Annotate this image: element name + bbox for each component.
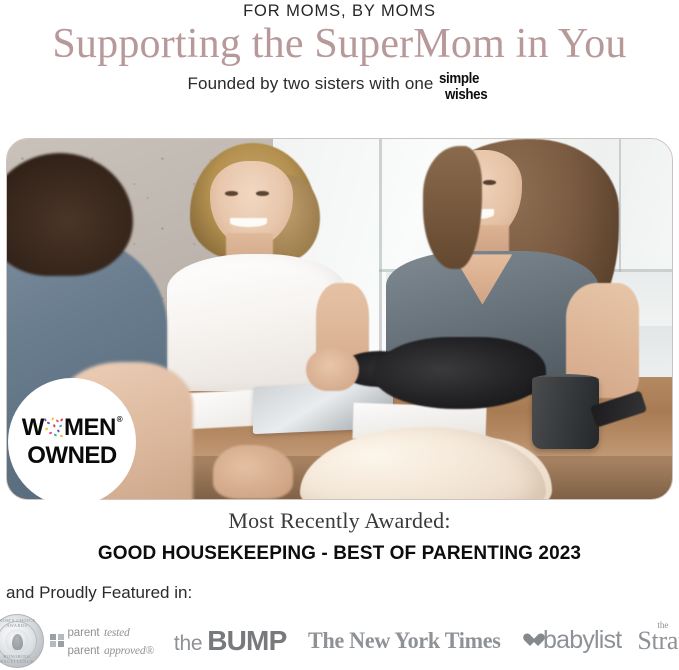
the-bump-logo: the BUMP [174, 625, 287, 657]
the-bump-word: BUMP [207, 625, 286, 657]
simple-wishes-logo: simple wishes [439, 72, 491, 102]
parent-tested-line1: parent tested [68, 623, 154, 640]
left-woman-eye [225, 191, 238, 195]
press-logo-new-york-times: The New York Times [286, 612, 505, 669]
parent-tested-word-tested: tested [104, 627, 130, 639]
eyebrow-text: FOR MOMS, BY MOMS [0, 2, 679, 21]
seal-text-bottom: HONORING EXCELLENCE [0, 654, 46, 664]
parent-tested-line2: parent approved® [68, 641, 154, 658]
new-york-times-logo: The New York Times [308, 628, 501, 654]
women-owned-line2: OWNED [27, 444, 117, 468]
the-strategist-logo: the Strategist [637, 626, 679, 656]
press-logo-the-strategist: the Strategist [621, 612, 679, 669]
parent-approved-word-approved: approved® [104, 645, 154, 657]
women-owned-badge: W MEN ® OWNED [8, 378, 136, 506]
page-title: Supporting the SuperMom in You [0, 20, 679, 68]
registered-trademark-icon: ® [117, 416, 122, 424]
founded-by-row: Founded by two sisters with one simple w… [0, 73, 679, 102]
women-owned-men: MEN [64, 416, 116, 440]
parent-tested-word-parent: parent [68, 627, 100, 639]
award-seal-icon: MOM'S CHOICE AWARDS HONORING EXCELLENCE [0, 612, 46, 670]
window-mullion [379, 139, 382, 355]
award-label: Most Recently Awarded: [0, 508, 679, 534]
left-woman-smile [230, 218, 267, 227]
press-logo-babylist: babylist [505, 612, 621, 669]
featured-in-label: and Proudly Featured in: [6, 583, 192, 603]
the-strategist-the: the [657, 620, 668, 630]
right-woman-eye [483, 180, 496, 184]
left-woman-eye [256, 191, 269, 195]
foreground-hand [213, 445, 293, 499]
confetti-burst-icon [44, 417, 64, 439]
babylist-logo: babylist [523, 626, 621, 655]
parent-tested-lines: parent tested parent approved® [68, 623, 154, 658]
simple-wishes-logo-line2: wishes [445, 88, 487, 103]
women-owned-w: W [22, 416, 44, 440]
black-pumping-bra [373, 337, 546, 409]
award-title: GOOD HOUSEKEEPING - BEST OF PARENTING 20… [0, 543, 679, 565]
press-logo-strip: MOM'S CHOICE AWARDS HONORING EXCELLENCE … [0, 612, 679, 669]
press-logo-award-seal: MOM'S CHOICE AWARDS HONORING EXCELLENCE [0, 612, 46, 669]
parent-approved-word-parent: parent [68, 645, 100, 657]
simple-wishes-logo-line1: simple [439, 72, 479, 87]
grid-squares-icon [50, 634, 64, 648]
coffee-mug [532, 377, 599, 449]
seal-figure [12, 634, 23, 650]
parent-tested-logo: parent tested parent approved® [50, 623, 154, 658]
press-logo-the-bump: the BUMP [154, 612, 287, 669]
hand-on-table [306, 348, 359, 391]
press-logo-parent-tested: parent tested parent approved® [46, 612, 154, 669]
the-strategist-word: Strategist [637, 626, 679, 655]
seal-text-top: MOM'S CHOICE AWARDS [0, 618, 46, 628]
founded-by-text: Founded by two sisters with one [188, 73, 434, 95]
right-woman-hair-front [423, 146, 483, 268]
babylist-word: babylist [543, 626, 621, 655]
women-owned-line1: W MEN ® [22, 416, 122, 440]
heart-icon [523, 634, 538, 648]
the-bump-the: the [174, 632, 202, 656]
